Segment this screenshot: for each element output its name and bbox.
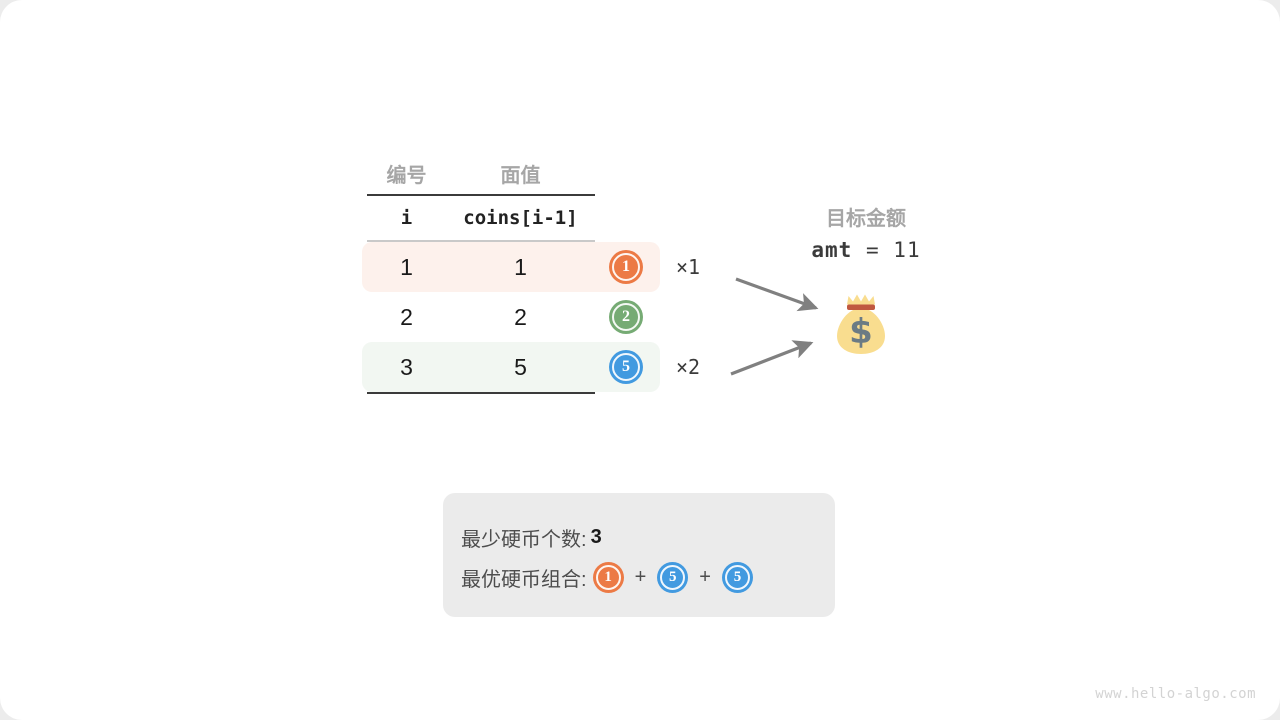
coin-badge-label: 1 xyxy=(604,570,612,585)
target-var-name: amt xyxy=(811,238,852,262)
coin-multiplier: ×2 xyxy=(676,355,700,379)
coin-badge: 2 xyxy=(609,300,643,334)
coin-badge: 5 xyxy=(722,562,753,593)
target-amount-block: 目标金额 amt = 11 xyxy=(780,205,952,267)
cell-denomination: 1 xyxy=(446,254,595,281)
result-combo-line: 最优硬币组合: 1 + 5 + 5 xyxy=(461,557,835,597)
cell-denomination: 2 xyxy=(446,304,595,331)
table-row: 1 1 1 ×1 xyxy=(367,242,595,292)
column-header-coins: coins[i-1] xyxy=(446,207,595,229)
diagram-canvas: 编号 面值 i coins[i-1] 1 1 1 ×1 2 2 2 xyxy=(0,0,1280,720)
result-panel: 最少硬币个数: 3 最优硬币组合: 1 + 5 + 5 xyxy=(443,493,835,617)
coin-badge: 1 xyxy=(593,562,624,593)
arrow-coin5-to-bag xyxy=(731,343,811,374)
result-combo-label: 最优硬币组合: xyxy=(461,563,587,592)
target-amount-label: 目标金额 xyxy=(780,205,952,233)
arrow-coin1-to-bag xyxy=(736,279,816,308)
table-column-header-row: i coins[i-1] xyxy=(367,196,595,240)
result-combo-coins: 1 + 5 + 5 xyxy=(593,562,753,593)
coin-badge-label: 5 xyxy=(669,570,677,585)
coin-badge: 5 xyxy=(657,562,688,593)
coin-badge-label: 1 xyxy=(622,259,630,275)
combo-separator: + xyxy=(699,566,711,589)
cell-index: 3 xyxy=(367,354,446,381)
column-header-i: i xyxy=(367,207,446,229)
group-header-index: 编号 xyxy=(367,159,446,188)
result-min-count-label: 最少硬币个数: xyxy=(461,523,587,552)
table-row: 3 5 5 ×2 xyxy=(367,342,595,392)
coin-badge: 5 xyxy=(609,350,643,384)
watermark: www.hello-algo.com xyxy=(1095,686,1256,702)
coin-badge-label: 5 xyxy=(734,570,742,585)
coin-badge-label: 2 xyxy=(622,309,630,325)
result-min-count-value: 3 xyxy=(591,526,602,549)
svg-text:$: $ xyxy=(849,312,873,352)
coin-multiplier: ×1 xyxy=(676,255,700,279)
cell-index: 2 xyxy=(367,304,446,331)
target-amount-value: 11 xyxy=(893,238,920,262)
table-group-header-row: 编号 面值 xyxy=(367,152,595,194)
coins-table: 编号 面值 i coins[i-1] 1 1 1 ×1 2 2 2 xyxy=(367,152,595,394)
combo-separator: + xyxy=(635,566,647,589)
cell-index: 1 xyxy=(367,254,446,281)
money-bag-icon: $ xyxy=(828,292,894,358)
result-min-count-line: 最少硬币个数: 3 xyxy=(461,517,835,557)
table-bottom-rule xyxy=(367,392,595,394)
coin-badge-label: 5 xyxy=(622,359,630,375)
target-equals: = xyxy=(866,238,880,262)
target-amount-expression: amt = 11 xyxy=(780,233,952,267)
coin-badge: 1 xyxy=(609,250,643,284)
cell-denomination: 5 xyxy=(446,354,595,381)
group-header-denomination: 面值 xyxy=(446,159,595,188)
table-row: 2 2 2 xyxy=(367,292,595,342)
